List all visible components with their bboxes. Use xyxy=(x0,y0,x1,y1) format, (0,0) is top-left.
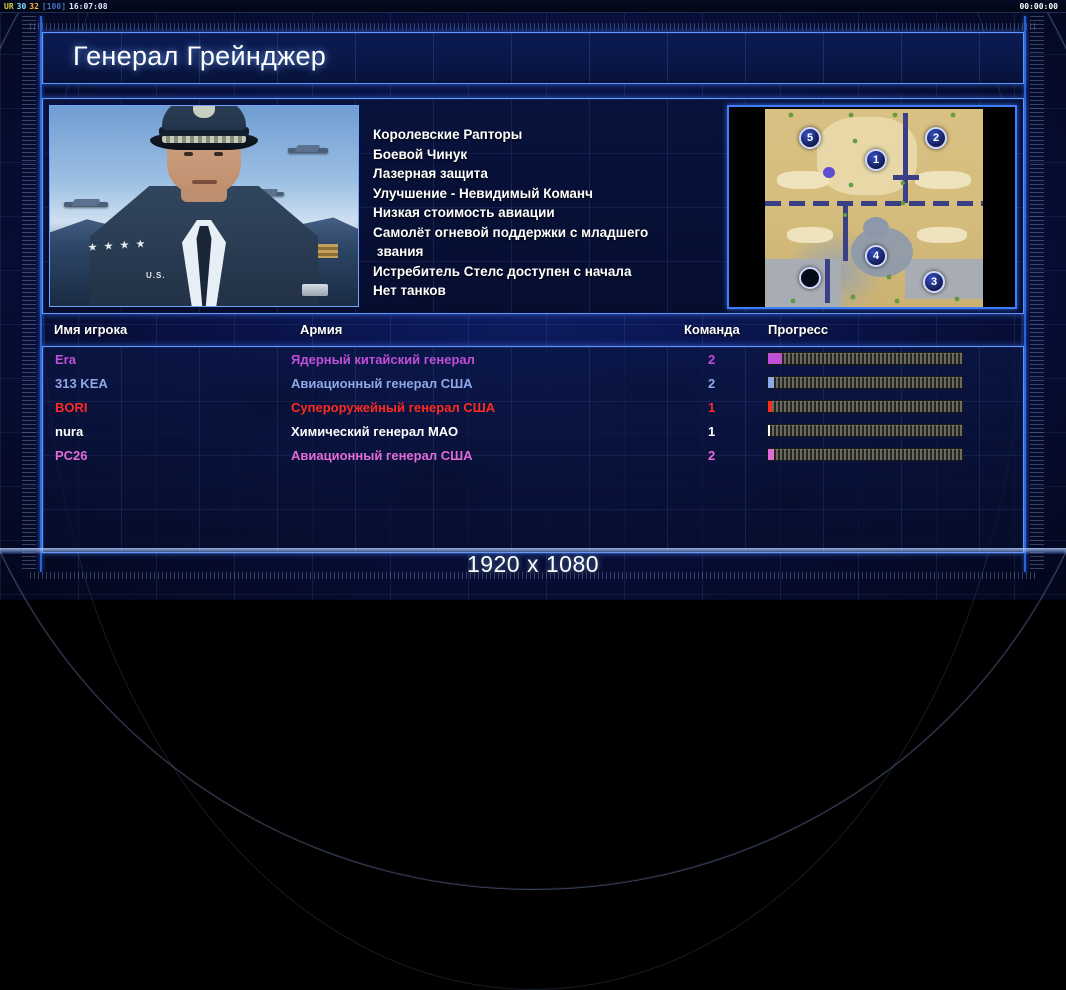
header-army: Армия xyxy=(300,322,342,337)
general-info-panel: U.S. Королевские Рапторы Боевой Чинук Ла… xyxy=(42,98,1024,314)
player-progress-bar xyxy=(767,352,963,365)
table-row[interactable]: 313 KEAАвиационный генерал США2 xyxy=(43,371,1023,395)
status-timer: 00:00:00 xyxy=(1019,2,1062,11)
aircraft-icon xyxy=(288,148,328,153)
player-name: Era xyxy=(55,352,76,367)
star-icon xyxy=(136,239,146,249)
map-road-vertical xyxy=(903,113,908,203)
ruler-rail-left xyxy=(16,16,42,572)
player-name: 313 KEA xyxy=(55,376,108,391)
map-preview[interactable]: 5 2 1 4 3 xyxy=(727,105,1017,309)
map-tree xyxy=(851,295,855,299)
map-sand-patch xyxy=(915,171,971,189)
ruler-ticks xyxy=(30,23,1036,30)
star-icon xyxy=(104,241,114,251)
map-tree xyxy=(789,113,793,117)
map-tree xyxy=(901,181,905,185)
status-ur-label: UR xyxy=(4,2,14,11)
player-name: BORI xyxy=(55,400,88,415)
map-tree xyxy=(791,299,795,303)
player-team: 2 xyxy=(708,448,715,463)
map-sand-patch xyxy=(777,171,829,189)
map-terrain: 5 2 1 4 3 xyxy=(765,109,983,307)
map-sand-patch xyxy=(787,227,833,243)
star-icon xyxy=(88,242,98,252)
player-team: 2 xyxy=(708,376,715,391)
map-start-position-2[interactable]: 2 xyxy=(925,127,947,149)
player-name: nura xyxy=(55,424,83,439)
player-team: 1 xyxy=(708,400,715,415)
player-table-header: Имя игрока Армия Команда Прогресс xyxy=(42,322,1024,344)
map-tree xyxy=(887,275,891,279)
progress-fill xyxy=(768,353,782,364)
map-start-position-empty[interactable] xyxy=(799,267,821,289)
map-tree xyxy=(849,113,853,117)
map-tree xyxy=(955,297,959,301)
player-progress-bar xyxy=(767,424,963,437)
ability-item: Лазерная защита xyxy=(373,164,703,184)
name-badge xyxy=(302,284,328,296)
status-bracket: [100] xyxy=(42,2,66,11)
player-army: Авиационный генерал США xyxy=(291,376,473,391)
status-value-1: 30 xyxy=(17,2,27,11)
ability-item: Нет танков xyxy=(373,281,703,301)
ribbon-bar xyxy=(318,244,338,258)
title-bar: Генерал Грейнджер xyxy=(42,32,1024,84)
player-team: 1 xyxy=(708,424,715,439)
map-sand-patch xyxy=(917,227,967,243)
map-start-position-4[interactable]: 4 xyxy=(865,245,887,267)
map-tree xyxy=(893,113,897,117)
star-icon xyxy=(120,240,130,250)
resolution-label: 1920 x 1080 xyxy=(0,551,1066,578)
player-rows: EraЯдерный китайский генерал2313 KEAАвиа… xyxy=(43,347,1023,467)
progress-fill xyxy=(768,401,772,412)
map-road-vertical xyxy=(825,259,830,303)
status-clock: 16:07:08 xyxy=(69,2,108,11)
table-row[interactable]: EraЯдерный китайский генерал2 xyxy=(43,347,1023,371)
table-row[interactable]: PC26Авиационный генерал США2 xyxy=(43,443,1023,467)
ruler-ticks xyxy=(1030,16,1044,572)
rail-edge xyxy=(1024,16,1026,572)
table-row[interactable]: nuraХимический генерал МАО1 xyxy=(43,419,1023,443)
map-start-position-3[interactable]: 3 xyxy=(923,271,945,293)
player-progress-bar xyxy=(767,400,963,413)
ability-item: Улучшение - Невидимый Команч xyxy=(373,184,703,204)
map-start-position-1[interactable]: 1 xyxy=(865,149,887,171)
player-table-body: EraЯдерный китайский генерал2313 KEAАвиа… xyxy=(42,346,1024,553)
header-team: Команда xyxy=(684,322,740,337)
map-water xyxy=(823,167,835,178)
map-tree xyxy=(849,183,853,187)
map-tree xyxy=(895,299,899,303)
map-tree xyxy=(901,201,905,205)
player-team: 2 xyxy=(708,352,715,367)
map-rock xyxy=(863,217,889,239)
portrait-eye-right xyxy=(214,152,223,156)
portrait-mouth xyxy=(192,180,217,184)
player-progress-bar xyxy=(767,448,963,461)
ability-item: Боевой Чинук xyxy=(373,145,703,165)
page-title: Генерал Грейнджер xyxy=(73,41,326,72)
general-portrait: U.S. xyxy=(49,105,359,307)
map-start-position-5[interactable]: 5 xyxy=(799,127,821,149)
header-player-name: Имя игрока xyxy=(54,322,127,337)
ability-item: Истребитель Стелс доступен с начала xyxy=(373,262,703,282)
map-tree xyxy=(951,113,955,117)
portrait-eye-left xyxy=(184,152,193,156)
ruler-rail-right xyxy=(1024,16,1050,572)
header-progress: Прогресс xyxy=(768,322,828,337)
ruler-ticks xyxy=(22,16,36,572)
ruler-rail-top xyxy=(30,18,1036,30)
map-road-horizontal xyxy=(765,201,983,206)
player-army: Ядерный китайский генерал xyxy=(291,352,475,367)
table-row[interactable]: BORIСупероружейный генерал США1 xyxy=(43,395,1023,419)
ability-item: Королевские Рапторы xyxy=(373,125,703,145)
map-tree xyxy=(853,139,857,143)
main-frame: Генерал Грейнджер xyxy=(42,32,1024,568)
progress-fill xyxy=(768,377,774,388)
player-name: PC26 xyxy=(55,448,88,463)
ability-item: Низкая стоимость авиации xyxy=(373,203,703,223)
general-abilities-list: Королевские Рапторы Боевой Чинук Лазерна… xyxy=(373,125,703,301)
map-tree xyxy=(843,213,847,217)
status-value-2: 32 xyxy=(29,2,39,11)
cap-scrambled-eggs xyxy=(162,135,246,143)
status-bar: UR 30 32 [100] 16:07:08 00:00:00 xyxy=(0,0,1066,13)
progress-fill xyxy=(768,449,774,460)
player-progress-bar xyxy=(767,376,963,389)
progress-fill xyxy=(768,425,770,436)
ability-item: звания xyxy=(373,242,703,262)
aircraft-icon xyxy=(64,202,108,207)
map-road-segment xyxy=(893,175,919,180)
ability-item: Самолёт огневой поддержки с младшего xyxy=(373,223,703,243)
player-army: Химический генерал МАО xyxy=(291,424,458,439)
player-army: Супероружейный генерал США xyxy=(291,400,495,415)
us-insignia: U.S. xyxy=(146,271,166,280)
player-army: Авиационный генерал США xyxy=(291,448,473,463)
